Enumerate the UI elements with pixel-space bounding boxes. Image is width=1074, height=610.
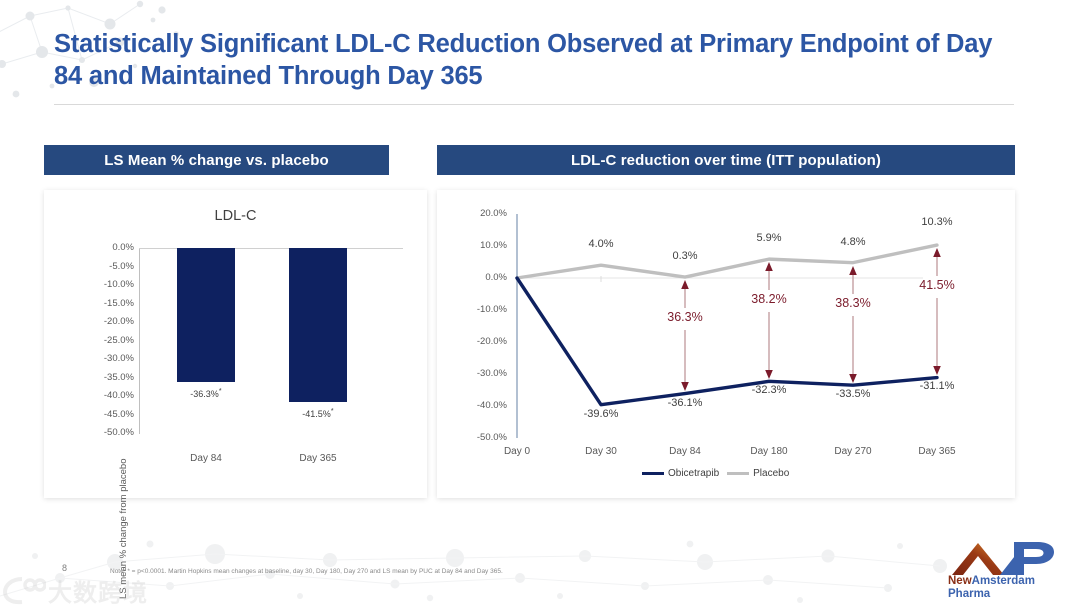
bar-y-tick: -30.0%: [82, 353, 134, 364]
line-category-day-365: Day 365: [907, 446, 967, 457]
gap-label-day-180: 38.2%: [734, 292, 804, 306]
company-logo: NewAmsterdam Pharma: [948, 541, 1060, 603]
page-title: Statistically Significant LDL-C Reductio…: [54, 28, 1014, 92]
obicetrapib-label-day-180: -32.3%: [739, 384, 799, 396]
bar-value-label-day-365: -41.5%*: [278, 406, 358, 419]
watermark-logo-icon: [2, 575, 46, 605]
bar-y-tick: -35.0%: [82, 372, 134, 383]
logo-wordmark: NewAmsterdam Pharma: [948, 575, 1060, 600]
obicetrapib-label-day-84: -36.1%: [655, 397, 715, 409]
bar-chart-card: LDL-C LS mean % change from placebo 0.0%…: [44, 190, 427, 498]
line-category-day-180: Day 180: [739, 446, 799, 457]
panel-header-ls-mean: LS Mean % change vs. placebo: [44, 145, 389, 175]
placebo-label-day-84: 0.3%: [655, 250, 715, 262]
bar-y-tick: -50.0%: [82, 427, 134, 438]
line-category-day-0: Day 0: [487, 446, 547, 457]
line-category-day-270: Day 270: [823, 446, 883, 457]
bar-category-day-84: Day 84: [166, 453, 246, 464]
gap-label-day-365: 41.5%: [902, 278, 972, 292]
bar-y-tick: -5.0%: [82, 261, 134, 272]
bar-y-tick: -10.0%: [82, 279, 134, 290]
bar-category-day-365: Day 365: [278, 453, 358, 464]
line-chart-legend: Obicetrapib Placebo: [642, 468, 789, 479]
panel-header-ldlc-over-time-label: LDL-C reduction over time (ITT populatio…: [571, 152, 881, 169]
bar-chart-y-axis-title: LS mean % change from placebo: [118, 459, 129, 599]
bar-y-tick: -20.0%: [82, 316, 134, 327]
panel-header-ldlc-over-time: LDL-C reduction over time (ITT populatio…: [437, 145, 1015, 175]
placebo-label-day-270: 4.8%: [823, 236, 883, 248]
bar-y-tick: -15.0%: [82, 298, 134, 309]
gap-label-day-84: 36.3%: [650, 310, 720, 324]
footnote: Note: * = p<0.0001. Martin Hopkins mean …: [110, 567, 890, 577]
obicetrapib-label-day-365: -31.1%: [907, 380, 967, 392]
title-divider: [54, 104, 1014, 105]
bar-day-365: [289, 248, 347, 402]
significance-marker: *: [331, 406, 334, 415]
obicetrapib-label-day-270: -33.5%: [823, 388, 883, 400]
bar-chart-title: LDL-C: [44, 208, 427, 224]
line-category-day-30: Day 30: [571, 446, 631, 457]
bar-value-label-day-84: -36.3%*: [166, 386, 246, 399]
placebo-label-day-30: 4.0%: [571, 238, 631, 250]
bar-y-tick: -25.0%: [82, 335, 134, 346]
legend-swatch-obicetrapib: [642, 472, 664, 475]
logo-mark-icon: [948, 541, 1060, 575]
legend-item-placebo[interactable]: Placebo: [727, 468, 789, 479]
legend-item-obicetrapib[interactable]: Obicetrapib: [642, 468, 719, 479]
logo-word-pharma: Pharma: [948, 588, 990, 600]
logo-word-amsterdam: Amsterdam: [972, 575, 1035, 587]
bar-chart-y-axis: [139, 248, 140, 434]
legend-label-placebo: Placebo: [753, 468, 789, 479]
slide-root: Statistically Significant LDL-C Reductio…: [0, 0, 1074, 610]
page-number: 8: [62, 563, 67, 573]
placebo-label-day-180: 5.9%: [739, 232, 799, 244]
logo-word-new: New: [948, 575, 972, 587]
obicetrapib-label-day-30: -39.6%: [571, 408, 631, 420]
bar-y-tick: -45.0%: [82, 409, 134, 420]
watermark: 大数跨境: [2, 572, 172, 606]
bar-value-day-84: -36.3%: [190, 389, 219, 399]
bar-y-tick: 0.0%: [82, 242, 134, 253]
legend-label-obicetrapib: Obicetrapib: [668, 468, 719, 479]
decorative-dots-bottom: [0, 500, 1074, 610]
line-category-day-84: Day 84: [655, 446, 715, 457]
bar-y-tick: -40.0%: [82, 390, 134, 401]
bar-day-84: [177, 248, 235, 382]
watermark-text: 大数跨境: [48, 573, 148, 608]
legend-swatch-placebo: [727, 472, 749, 475]
placebo-label-day-365: 10.3%: [907, 216, 967, 228]
line-chart-card: 20.0% 10.0% 0.0% -10.0% -20.0% -30.0% -4…: [437, 190, 1015, 498]
bar-value-day-365: -41.5%: [302, 409, 331, 419]
panel-header-ls-mean-label: LS Mean % change vs. placebo: [104, 152, 329, 169]
significance-marker: *: [219, 386, 222, 395]
gap-label-day-270: 38.3%: [818, 296, 888, 310]
